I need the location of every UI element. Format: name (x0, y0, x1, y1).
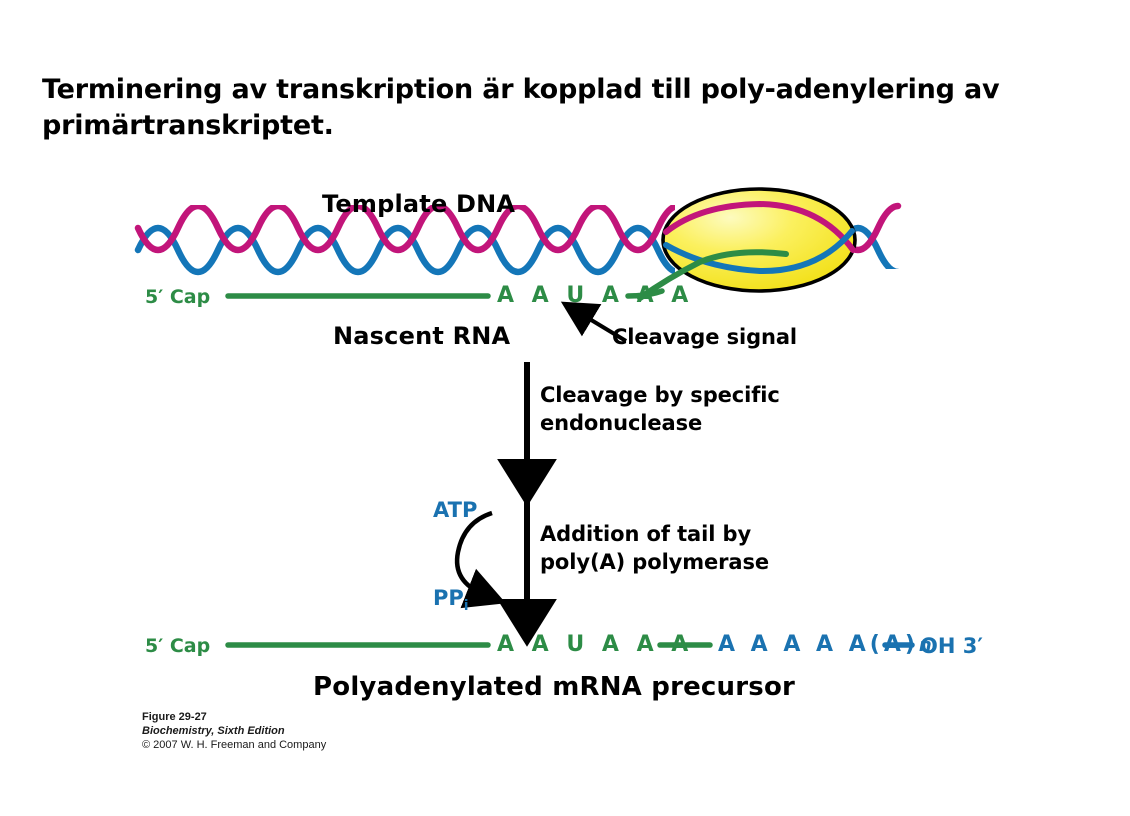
cap-label-top: 5′ Cap (145, 286, 210, 308)
slide-canvas: Terminering av transkription är kopplad … (0, 0, 1130, 816)
terminus-label: OH 3′ (920, 634, 983, 658)
figure-polyadenylation-diagram: Template DNA Nascent RNA 5′ Cap A A U A … (0, 0, 1130, 816)
product-name-label: Polyadenylated mRNA precursor (313, 672, 795, 702)
cleavage-signal-label: Cleavage signal (612, 325, 797, 349)
template-dna-label: Template DNA (322, 190, 515, 218)
ppi-text: PP (433, 586, 464, 610)
figure-caption: Figure 29-27 Biochemistry, Sixth Edition… (142, 710, 326, 753)
ppi-subscript: i (464, 598, 469, 614)
atp-to-ppi-curved-arrow (457, 513, 492, 595)
caption-book-title: Biochemistry, Sixth Edition (142, 724, 326, 738)
caption-copyright: © 2007 W. H. Freeman and Company (142, 738, 326, 753)
caption-figure-number: Figure 29-27 (142, 710, 326, 724)
step1-label: Cleavage by specific endonuclease (540, 381, 780, 437)
atp-label: ATP (433, 498, 477, 522)
polya-tail-text: A A A A A(A) (718, 632, 919, 657)
signal-sequence-bottom: A A U A A A (497, 632, 693, 657)
cap-label-bottom: 5′ Cap (145, 635, 210, 657)
nascent-rna-label: Nascent RNA (333, 322, 510, 350)
ppi-label: PPi (433, 586, 469, 614)
step2-label: Addition of tail by poly(A) polymerase (540, 520, 769, 576)
polya-tail-sequence: A A A A A(A)n (718, 632, 932, 657)
signal-sequence-top: A A U A A A (497, 283, 693, 308)
